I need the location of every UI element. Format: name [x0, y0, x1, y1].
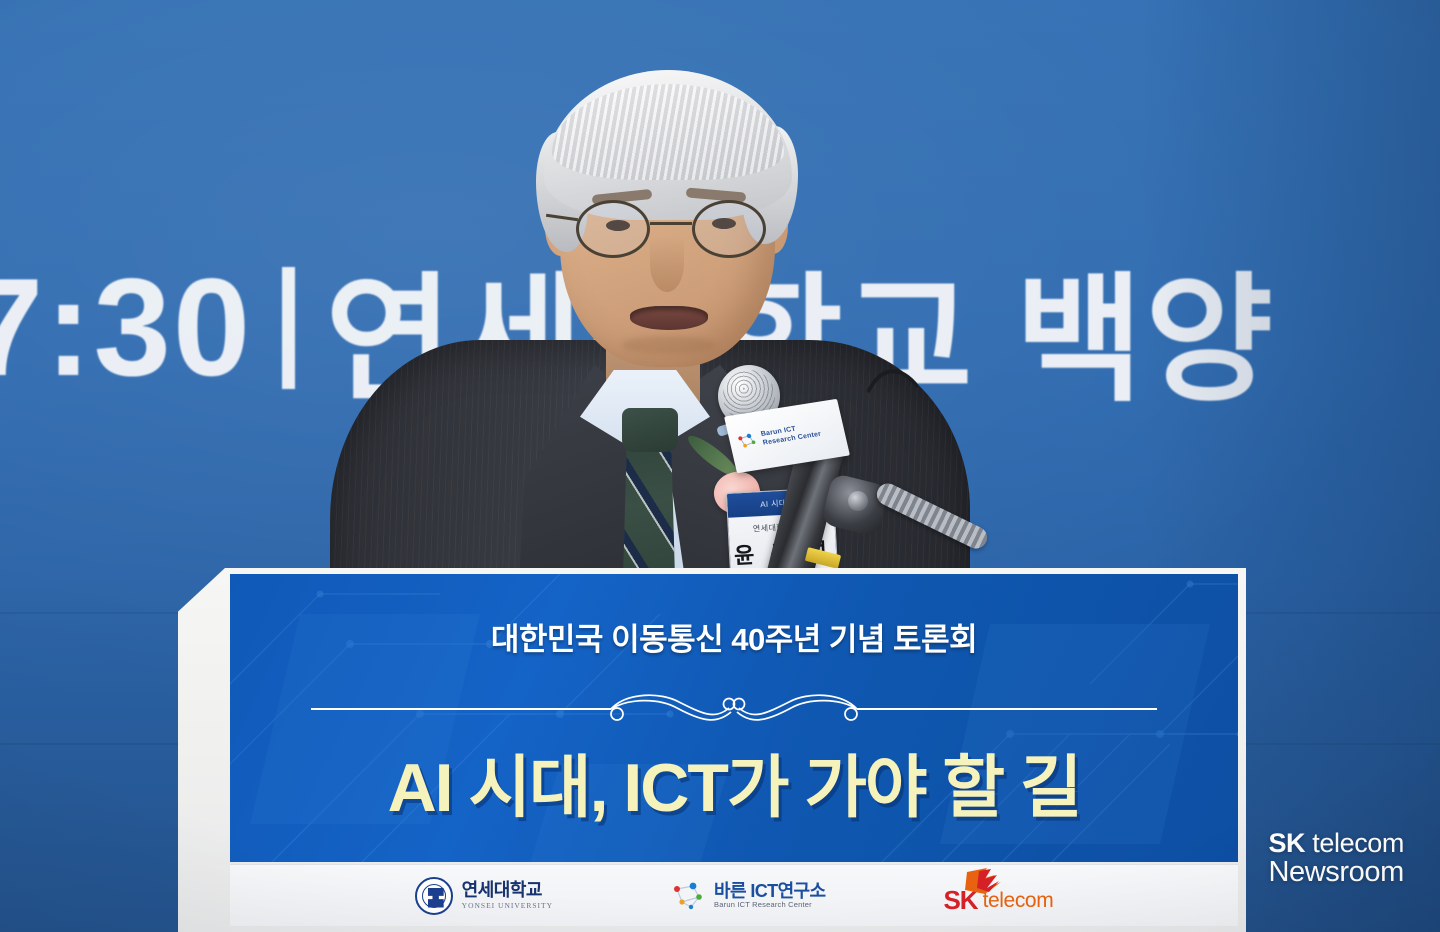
hair	[544, 70, 792, 220]
eyeglass-lens-right	[692, 200, 766, 258]
barun-name-en: Barun ICT Research Center	[714, 900, 825, 909]
logo-yonsei-university: 연세대학교 YONSEI UNIVERSITY	[415, 877, 553, 915]
barun-ict-network-icon	[735, 431, 759, 454]
screenshot-root: 7:30 연세대학교 백양	[0, 0, 1440, 932]
necktie-knot	[622, 408, 678, 452]
podium: 대한민국 이동통신 40주년 기념 토론회	[178, 568, 1246, 932]
nose	[650, 236, 684, 292]
barun-name-kr: 바른 ICT연구소	[714, 882, 825, 901]
watermark-line-1: SK telecom	[1268, 829, 1404, 858]
banner-event-title: 대한민국 이동통신 40주년 기념 토론회	[230, 614, 1238, 659]
podium-sponsor-logos: 연세대학교 YONSEI UNIVERSITY	[230, 864, 1238, 926]
backdrop-separator-bar	[282, 267, 295, 389]
yonsei-name-en: YONSEI UNIVERSITY	[462, 901, 553, 910]
barun-network-icon	[671, 881, 705, 911]
eyeglass-lens-left	[576, 200, 650, 258]
banner-main-title: AI 시대, ICT가 가야 할 길	[230, 732, 1238, 831]
watermark-brand-bold: SK	[1268, 828, 1305, 858]
microphone-flag-text: Barun ICT Research Center	[760, 422, 822, 448]
podium-banner: 대한민국 이동통신 40주년 기념 토론회	[230, 574, 1238, 862]
mouth	[630, 306, 708, 330]
barun-logo-text: 바른 ICT연구소 Barun ICT Research Center	[714, 882, 825, 910]
eyeglass-bridge	[650, 222, 692, 225]
microphone-cable	[846, 365, 948, 494]
watermark-line-2: Newsroom	[1268, 857, 1404, 888]
watermark-brand-rest: telecom	[1305, 828, 1404, 858]
yonsei-name-kr: 연세대학교	[462, 880, 542, 900]
microphone-assembly: Barun ICT Research Center	[700, 355, 990, 600]
microphone-gooseneck	[873, 480, 990, 552]
sk-wing-icon	[965, 868, 1005, 894]
banner-ornamental-divider	[311, 692, 1157, 726]
microphone-joint-screw	[848, 491, 868, 511]
logo-sk-telecom: SK telecom	[943, 880, 1053, 911]
logo-barun-ict-research-center: 바른 ICT연구소 Barun ICT Research Center	[671, 881, 825, 911]
yonsei-logo-text: 연세대학교 YONSEI UNIVERSITY	[462, 881, 553, 910]
backdrop-time-text: 7:30	[0, 248, 252, 408]
sk-telecom-newsroom-watermark: SK telecom Newsroom	[1268, 829, 1404, 888]
sk-telecom-wordmark: SK telecom	[943, 880, 1053, 911]
yonsei-seal-icon	[415, 877, 453, 915]
chin-shadow	[622, 336, 716, 354]
